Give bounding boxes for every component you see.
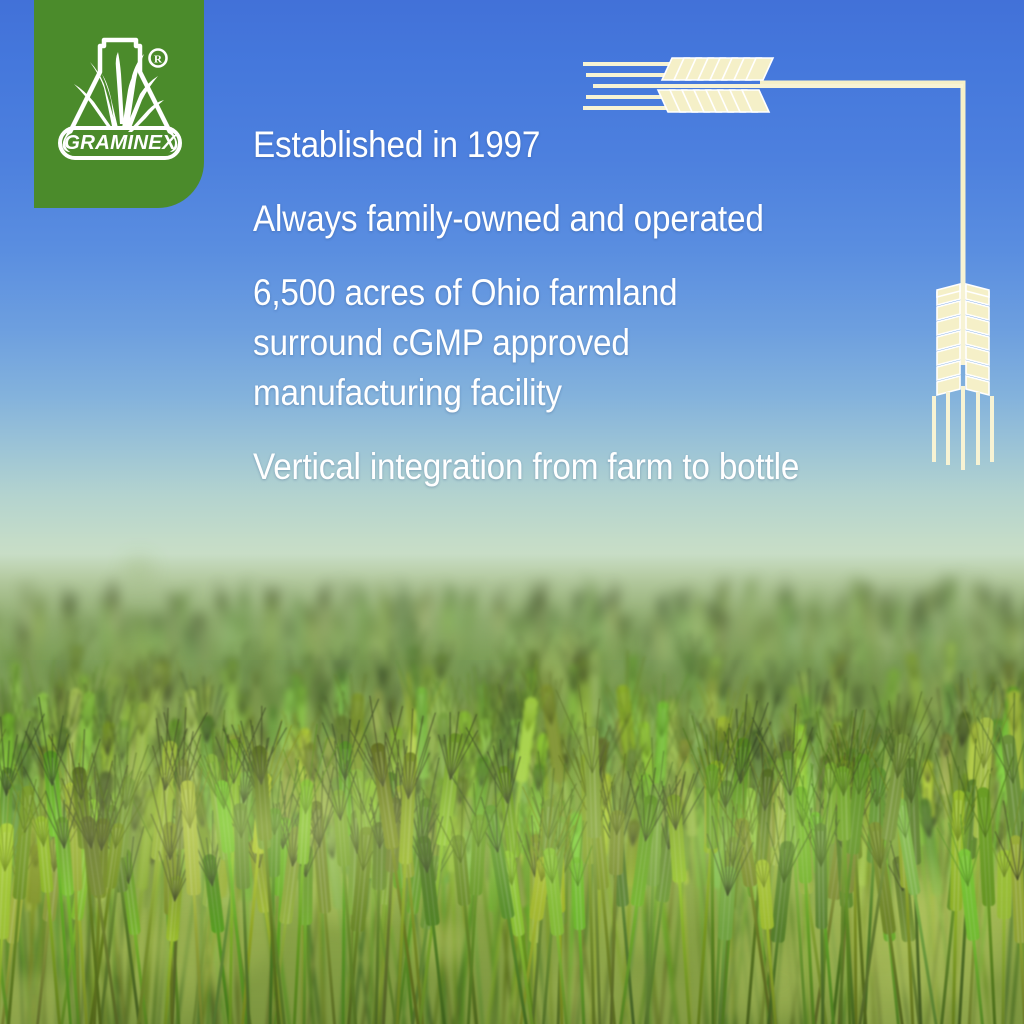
copy-line-acreage: 6,500 acres of Ohio farmland surround cG… <box>253 268 883 418</box>
copy-line-family-owned: Always family-owned and operated <box>253 194 883 244</box>
marketing-copy-block: Established in 1997 Always family-owned … <box>253 120 953 492</box>
brand-wordmark: GRAMINEX <box>64 131 177 154</box>
field-layer-front <box>0 840 1024 1024</box>
promotional-graphic: R GRAMINEX Established i <box>0 0 1024 1024</box>
copy-line-established: Established in 1997 <box>253 120 883 170</box>
brand-logo-panel: R GRAMINEX <box>34 0 204 208</box>
erlenmeyer-flask-with-grass-icon: R GRAMINEX <box>52 28 188 170</box>
svg-text:R: R <box>154 54 163 66</box>
copy-line-integration: Vertical integration from farm to bottle <box>253 442 883 492</box>
